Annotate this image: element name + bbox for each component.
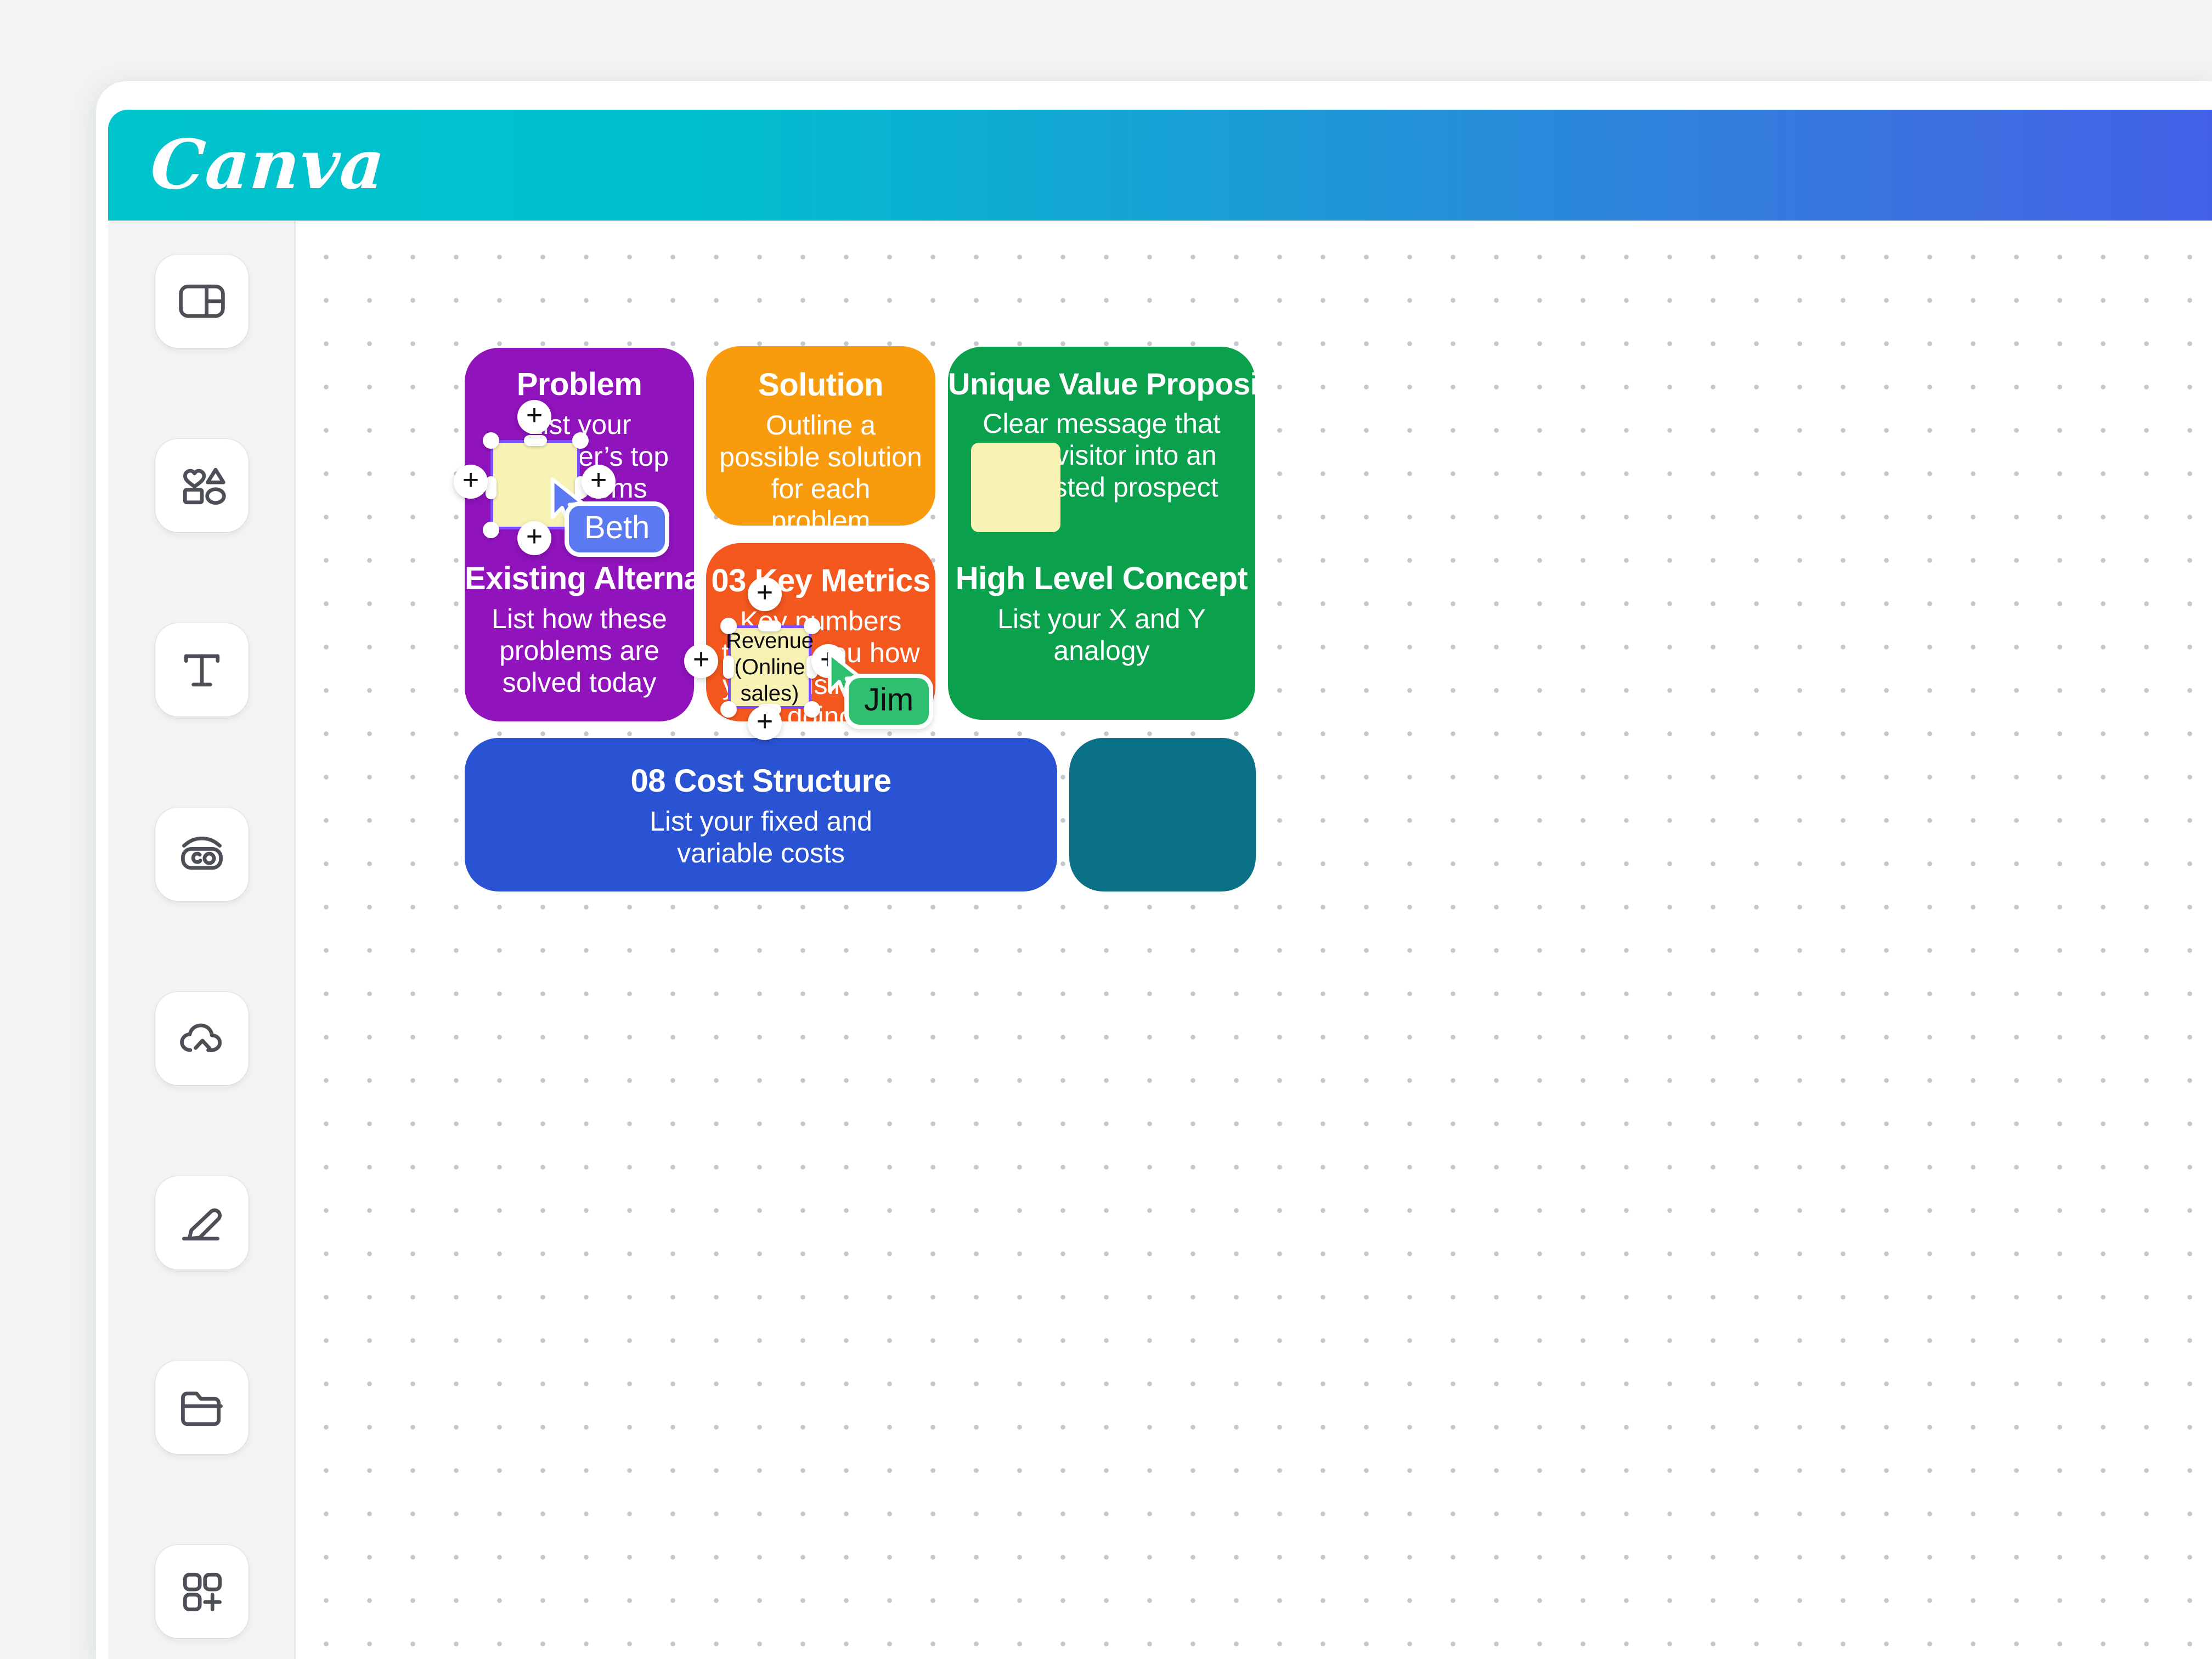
card-cost-structure[interactable]: 08 Cost Structure List your fixed and va… xyxy=(465,738,1057,891)
sidebar-item-uploads[interactable] xyxy=(155,992,249,1085)
resize-handle-metrics-left[interactable] xyxy=(723,656,734,679)
resize-handle-metrics-bottom-right[interactable] xyxy=(804,701,820,718)
brand-co-icon xyxy=(176,828,228,881)
canva-app-window: Canva xyxy=(96,81,2212,1659)
sidebar-item-text[interactable] xyxy=(155,623,249,716)
resize-handle-top-right[interactable] xyxy=(572,432,589,449)
card-high-level-concept-subtitle: List your X and Y analogy xyxy=(948,603,1255,667)
collaborator-label-beth: Beth xyxy=(565,501,669,557)
card-unique-value-proposition[interactable]: Unique Value Proposition Clear message t… xyxy=(948,347,1255,720)
cloud-upload-icon xyxy=(176,1012,228,1065)
card-cost-structure-subtitle: List your fixed and variable costs xyxy=(465,805,1057,869)
resize-handle-top-left[interactable] xyxy=(483,432,499,449)
collaborator-label-jim: Jim xyxy=(844,674,933,729)
add-sticky-metrics-bottom-button[interactable]: + xyxy=(748,706,782,740)
add-sticky-metrics-top-button[interactable]: + xyxy=(748,577,782,611)
card-key-metrics-title: 03 Key Metrics xyxy=(706,564,935,597)
resize-handle-metrics-top-left[interactable] xyxy=(720,618,737,634)
sidebar-item-design[interactable] xyxy=(155,255,249,348)
add-sticky-left-button[interactable]: + xyxy=(454,465,488,499)
card-solution[interactable]: Solution Outline a possible solution for… xyxy=(706,346,935,526)
design-layout-icon xyxy=(176,275,228,328)
text-t-icon xyxy=(176,644,228,696)
canva-logo[interactable]: Canva xyxy=(149,131,387,199)
resize-handle-metrics-top-right[interactable] xyxy=(804,618,820,634)
sidebar-item-brand[interactable] xyxy=(155,808,249,901)
sticky-note-uvp[interactable] xyxy=(971,443,1060,532)
design-canvas[interactable]: Problem List your customer’s top 3 probl… xyxy=(296,221,2212,1659)
shapes-elements-icon xyxy=(176,459,228,512)
sidebar-item-projects[interactable] xyxy=(155,1361,249,1454)
card-existing-alternatives-title: Existing Alternatives xyxy=(465,562,694,595)
app-header: Canva xyxy=(108,110,2212,221)
resize-handle-metrics-top[interactable] xyxy=(758,620,781,631)
card-existing-alternatives-subtitle: List how these problems are solved today xyxy=(465,603,694,698)
resize-handle-metrics-bottom-left[interactable] xyxy=(720,701,737,718)
resize-handle-bottom-left[interactable] xyxy=(483,522,499,538)
sidebar-item-elements[interactable] xyxy=(155,439,249,532)
sticky-note-metrics-selected[interactable]: Revenue (Online sales) xyxy=(728,625,811,709)
sidebar-item-draw[interactable] xyxy=(155,1176,249,1269)
card-high-level-concept-title: High Level Concept xyxy=(948,562,1255,595)
card-cost-structure-title: 08 Cost Structure xyxy=(465,764,1057,798)
sticky-metrics-line1: Revenue xyxy=(726,628,814,654)
add-sticky-top-button[interactable]: + xyxy=(517,400,551,434)
folder-icon xyxy=(176,1381,228,1434)
sidebar-item-apps[interactable] xyxy=(155,1545,249,1638)
card-problem-title: Problem xyxy=(465,368,694,401)
apps-grid-plus-icon xyxy=(176,1565,228,1618)
card-solution-subtitle: Outline a possible solution for each pro… xyxy=(706,409,935,526)
card-teal-partial[interactable] xyxy=(1069,738,1256,891)
resize-handle-top[interactable] xyxy=(524,435,547,446)
left-toolbar xyxy=(108,221,296,1659)
card-solution-title: Solution xyxy=(706,368,935,402)
add-sticky-bottom-button[interactable]: + xyxy=(517,521,551,555)
add-sticky-metrics-left-button[interactable]: + xyxy=(684,644,718,678)
card-uvp-title: Unique Value Proposition xyxy=(948,368,1255,400)
pen-draw-icon xyxy=(176,1197,228,1249)
sticky-metrics-line2: (Online sales) xyxy=(726,654,814,707)
